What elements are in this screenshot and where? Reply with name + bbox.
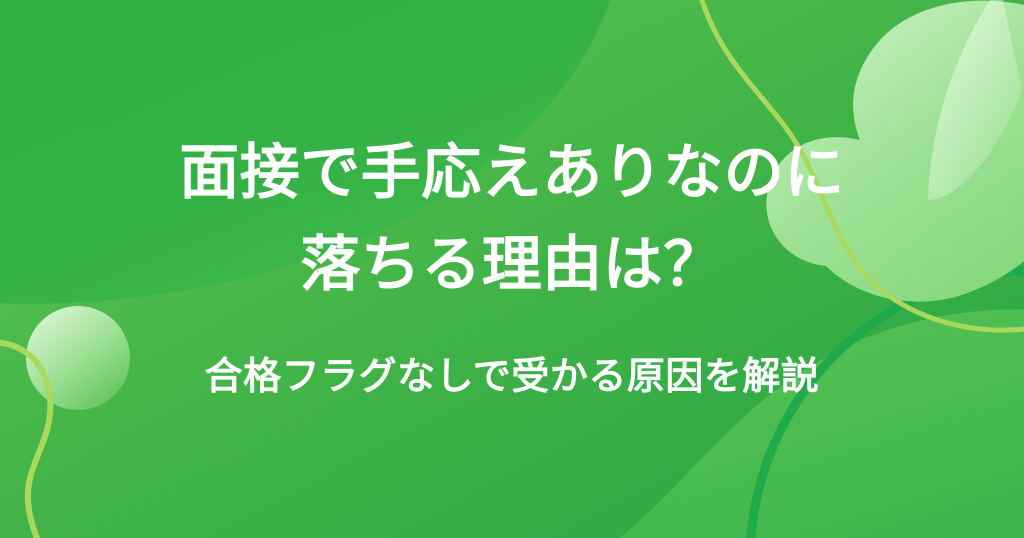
title-line-1: 面接で手応えありなのに	[0, 143, 1024, 203]
banner-image: 面接で手応えありなのに 落ちる理由は？ 合格フラグなしで受かる原因を解説	[0, 0, 1024, 538]
subtitle: 合格フラグなしで受かる原因を解説	[0, 358, 1024, 396]
title-line-2: 落ちる理由は？	[0, 235, 1024, 295]
text-content-layer: 面接で手応えありなのに 落ちる理由は？ 合格フラグなしで受かる原因を解説	[0, 0, 1024, 538]
